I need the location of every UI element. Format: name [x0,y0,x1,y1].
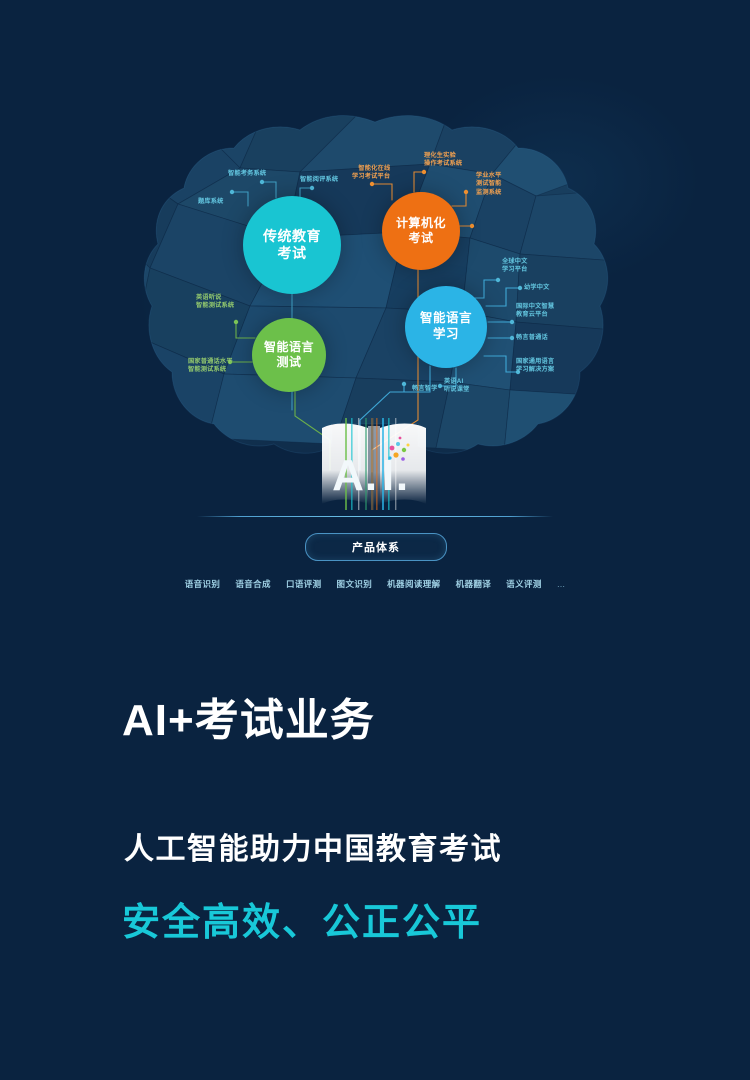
capability-tag[interactable]: 机器翻译 [456,578,492,590]
product-system-button[interactable]: 产品体系 [305,533,447,561]
svg-text:.: . [365,451,377,500]
bubble-label: 计算机化 考试 [396,216,446,246]
svg-text:A: A [332,451,364,500]
hero-subtitle-accent: 安全高效、公正公平 [122,891,482,946]
node-label-changyan-mandarin: 畅言普通话 [516,334,548,342]
ai-book-logo: A . I . [318,418,430,510]
node-label-intl-chinese-edu-cloud: 国际中文智慧 教育云平台 [516,303,554,320]
node-label-question-bank-system: 题库系统 [198,198,224,206]
node-label-national-language-solution: 国家通用语言 学习解决方案 [516,358,554,375]
node-label-kids-chinese: 幼学中文 [524,284,550,292]
capability-tag-more: … [557,579,566,589]
bubble-label: 智能语言 学习 [420,311,472,342]
bubble-intelligent-language-learning[interactable]: 智能语言 学习 [405,286,487,368]
node-label-lab-operation-exam-system: 理化生实验 操作考试系统 [424,152,462,169]
bubble-label: 传统教育 考试 [263,228,321,263]
node-label-national-mandarin-test-system: 国家普通话水平 智能测试系统 [188,358,233,375]
node-label-english-ai-classroom: 英语AI 听说课堂 [444,378,470,395]
node-label-smart-exam-admin-system: 智能考务系统 [228,170,266,178]
bubble-computerized-exam[interactable]: 计算机化 考试 [382,192,460,270]
svg-text:I: I [382,451,394,500]
capability-tag[interactable]: 机器阅读理解 [387,578,440,590]
bubble-intelligent-language-testing[interactable]: 智能语言 测试 [252,318,326,392]
poster-root: 传统教育 考试 计算机化 考试 智能语言 学习 智能语言 测试 题库系统 智能考… [0,0,750,1080]
capability-tag[interactable]: 语音识别 [185,578,221,590]
node-label-smart-exam-review-system: 智能阅评系统 [300,176,338,184]
capability-tag[interactable]: 口语评测 [286,578,322,590]
capability-tag[interactable]: 语义评测 [506,578,542,590]
page-title: AI+考试业务 [122,684,375,748]
bubble-label: 智能语言 测试 [264,340,314,370]
node-label-global-chinese-learning-platform: 全球中文 学习平台 [502,258,528,275]
node-label-online-learning-exam-platform: 智能化在线 学习考试平台 [352,165,390,182]
product-system-button-label: 产品体系 [352,539,400,555]
node-label-changyan-smart-learning: 畅言智学 [412,385,438,393]
node-label-academic-level-monitor-system: 学业水平 测试智能 监测系统 [476,172,502,197]
capability-tag[interactable]: 语音合成 [235,578,271,590]
node-label-english-listening-speaking-test: 英语听说 智能测试系统 [196,294,234,311]
bubble-traditional-exam[interactable]: 传统教育 考试 [243,196,341,294]
capability-tag[interactable]: 图文识别 [337,578,373,590]
hero-subtitle-primary: 人工智能助力中国教育考试 [124,824,502,868]
section-divider [197,516,553,517]
capability-tag-row: 语音识别 语音合成 口语评测 图文识别 机器阅读理解 机器翻译 语义评测 … [0,578,750,590]
